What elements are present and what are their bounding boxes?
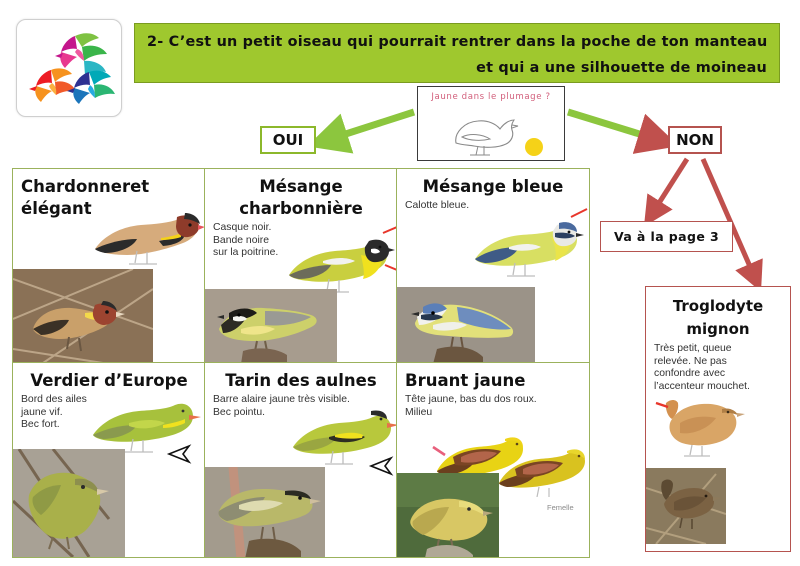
arrow-non-to-page3 bbox=[652, 159, 687, 214]
blue-tit-photo bbox=[397, 287, 535, 364]
banner-line-1: 2- C’est un petit oiseau qui pourrait re… bbox=[147, 29, 767, 55]
card-title-line1: Chardonneret bbox=[21, 176, 197, 198]
species-card-verdier[interactable]: Verdier d’Europe Bord des ailes jaune vi… bbox=[12, 362, 206, 558]
hummingbirds-logo bbox=[16, 19, 122, 117]
non-box[interactable]: NON bbox=[668, 126, 722, 154]
species-card-tarin[interactable]: Tarin des aulnes Barre alaire jaune très… bbox=[204, 362, 398, 558]
card-desc: Tête jaune, bas du dos roux. Milieu bbox=[405, 394, 581, 419]
great-tit-photo bbox=[205, 289, 337, 364]
decision-question-text: Jaune dans le plumage ? bbox=[418, 92, 564, 102]
blue-tit-illustration-icon bbox=[471, 203, 589, 287]
yellowhammer-photo bbox=[397, 473, 499, 558]
card-title-line1: Tarin des aulnes bbox=[213, 370, 389, 392]
decision-question-box: Jaune dans le plumage ? bbox=[417, 86, 565, 161]
species-card-mesange-charbonniere[interactable]: Mésange charbonnière Casque noir. Bande … bbox=[204, 168, 398, 364]
goto-page3-label: Va à la page 3 bbox=[614, 229, 719, 244]
page-root: 2- C’est un petit oiseau qui pourrait re… bbox=[0, 0, 800, 566]
label-female: Femelle bbox=[547, 503, 574, 512]
pointer-arrow-icon bbox=[367, 455, 395, 477]
oui-box[interactable]: OUI bbox=[260, 126, 316, 154]
card-title-line2: charbonnière bbox=[213, 198, 389, 220]
card-title-line1: Mésange bbox=[213, 176, 389, 198]
siskin-photo bbox=[205, 467, 325, 558]
card-title-line2: mignon bbox=[646, 318, 790, 341]
question-banner: 2- C’est un petit oiseau qui pourrait re… bbox=[134, 23, 780, 83]
goldfinch-photo bbox=[13, 269, 153, 363]
arrow-to-non bbox=[568, 112, 659, 140]
bird-silhouette-icon bbox=[418, 103, 566, 161]
arrow-non-to-troglodyte bbox=[703, 159, 755, 278]
species-card-mesange-bleue[interactable]: Mésange bleue Calotte bleue. bbox=[396, 168, 590, 364]
arrow-to-oui bbox=[327, 112, 414, 140]
card-desc: Très petit, queue relevée. Ne pas confon… bbox=[654, 343, 782, 393]
card-title-line1: Troglodyte bbox=[646, 295, 790, 318]
pointer-arrow-icon bbox=[165, 443, 193, 465]
species-card-chardonneret[interactable]: Chardonneret élégant bbox=[12, 168, 206, 364]
species-card-troglodyte[interactable]: Troglodyte mignon Très petit, queue rele… bbox=[645, 286, 791, 552]
goto-page3-box[interactable]: Va à la page 3 bbox=[600, 221, 733, 252]
species-card-bruant-jaune[interactable]: Bruant jaune Tête jaune, bas du dos roux… bbox=[396, 362, 590, 558]
greenfinch-photo bbox=[13, 449, 125, 557]
wren-photo bbox=[646, 468, 726, 544]
card-title-line1: Bruant jaune bbox=[405, 370, 581, 392]
non-label: NON bbox=[676, 131, 714, 149]
banner-line-2: et qui a une silhouette de moineau bbox=[147, 55, 767, 81]
goldfinch-illustration-icon bbox=[89, 201, 205, 279]
wren-illustration-icon bbox=[646, 393, 746, 463]
hummingbirds-logo-icon bbox=[17, 20, 121, 116]
species-card-grid: Chardonneret élégant bbox=[12, 168, 588, 556]
oui-label: OUI bbox=[273, 131, 304, 149]
card-title-line1: Mésange bleue bbox=[405, 176, 581, 198]
